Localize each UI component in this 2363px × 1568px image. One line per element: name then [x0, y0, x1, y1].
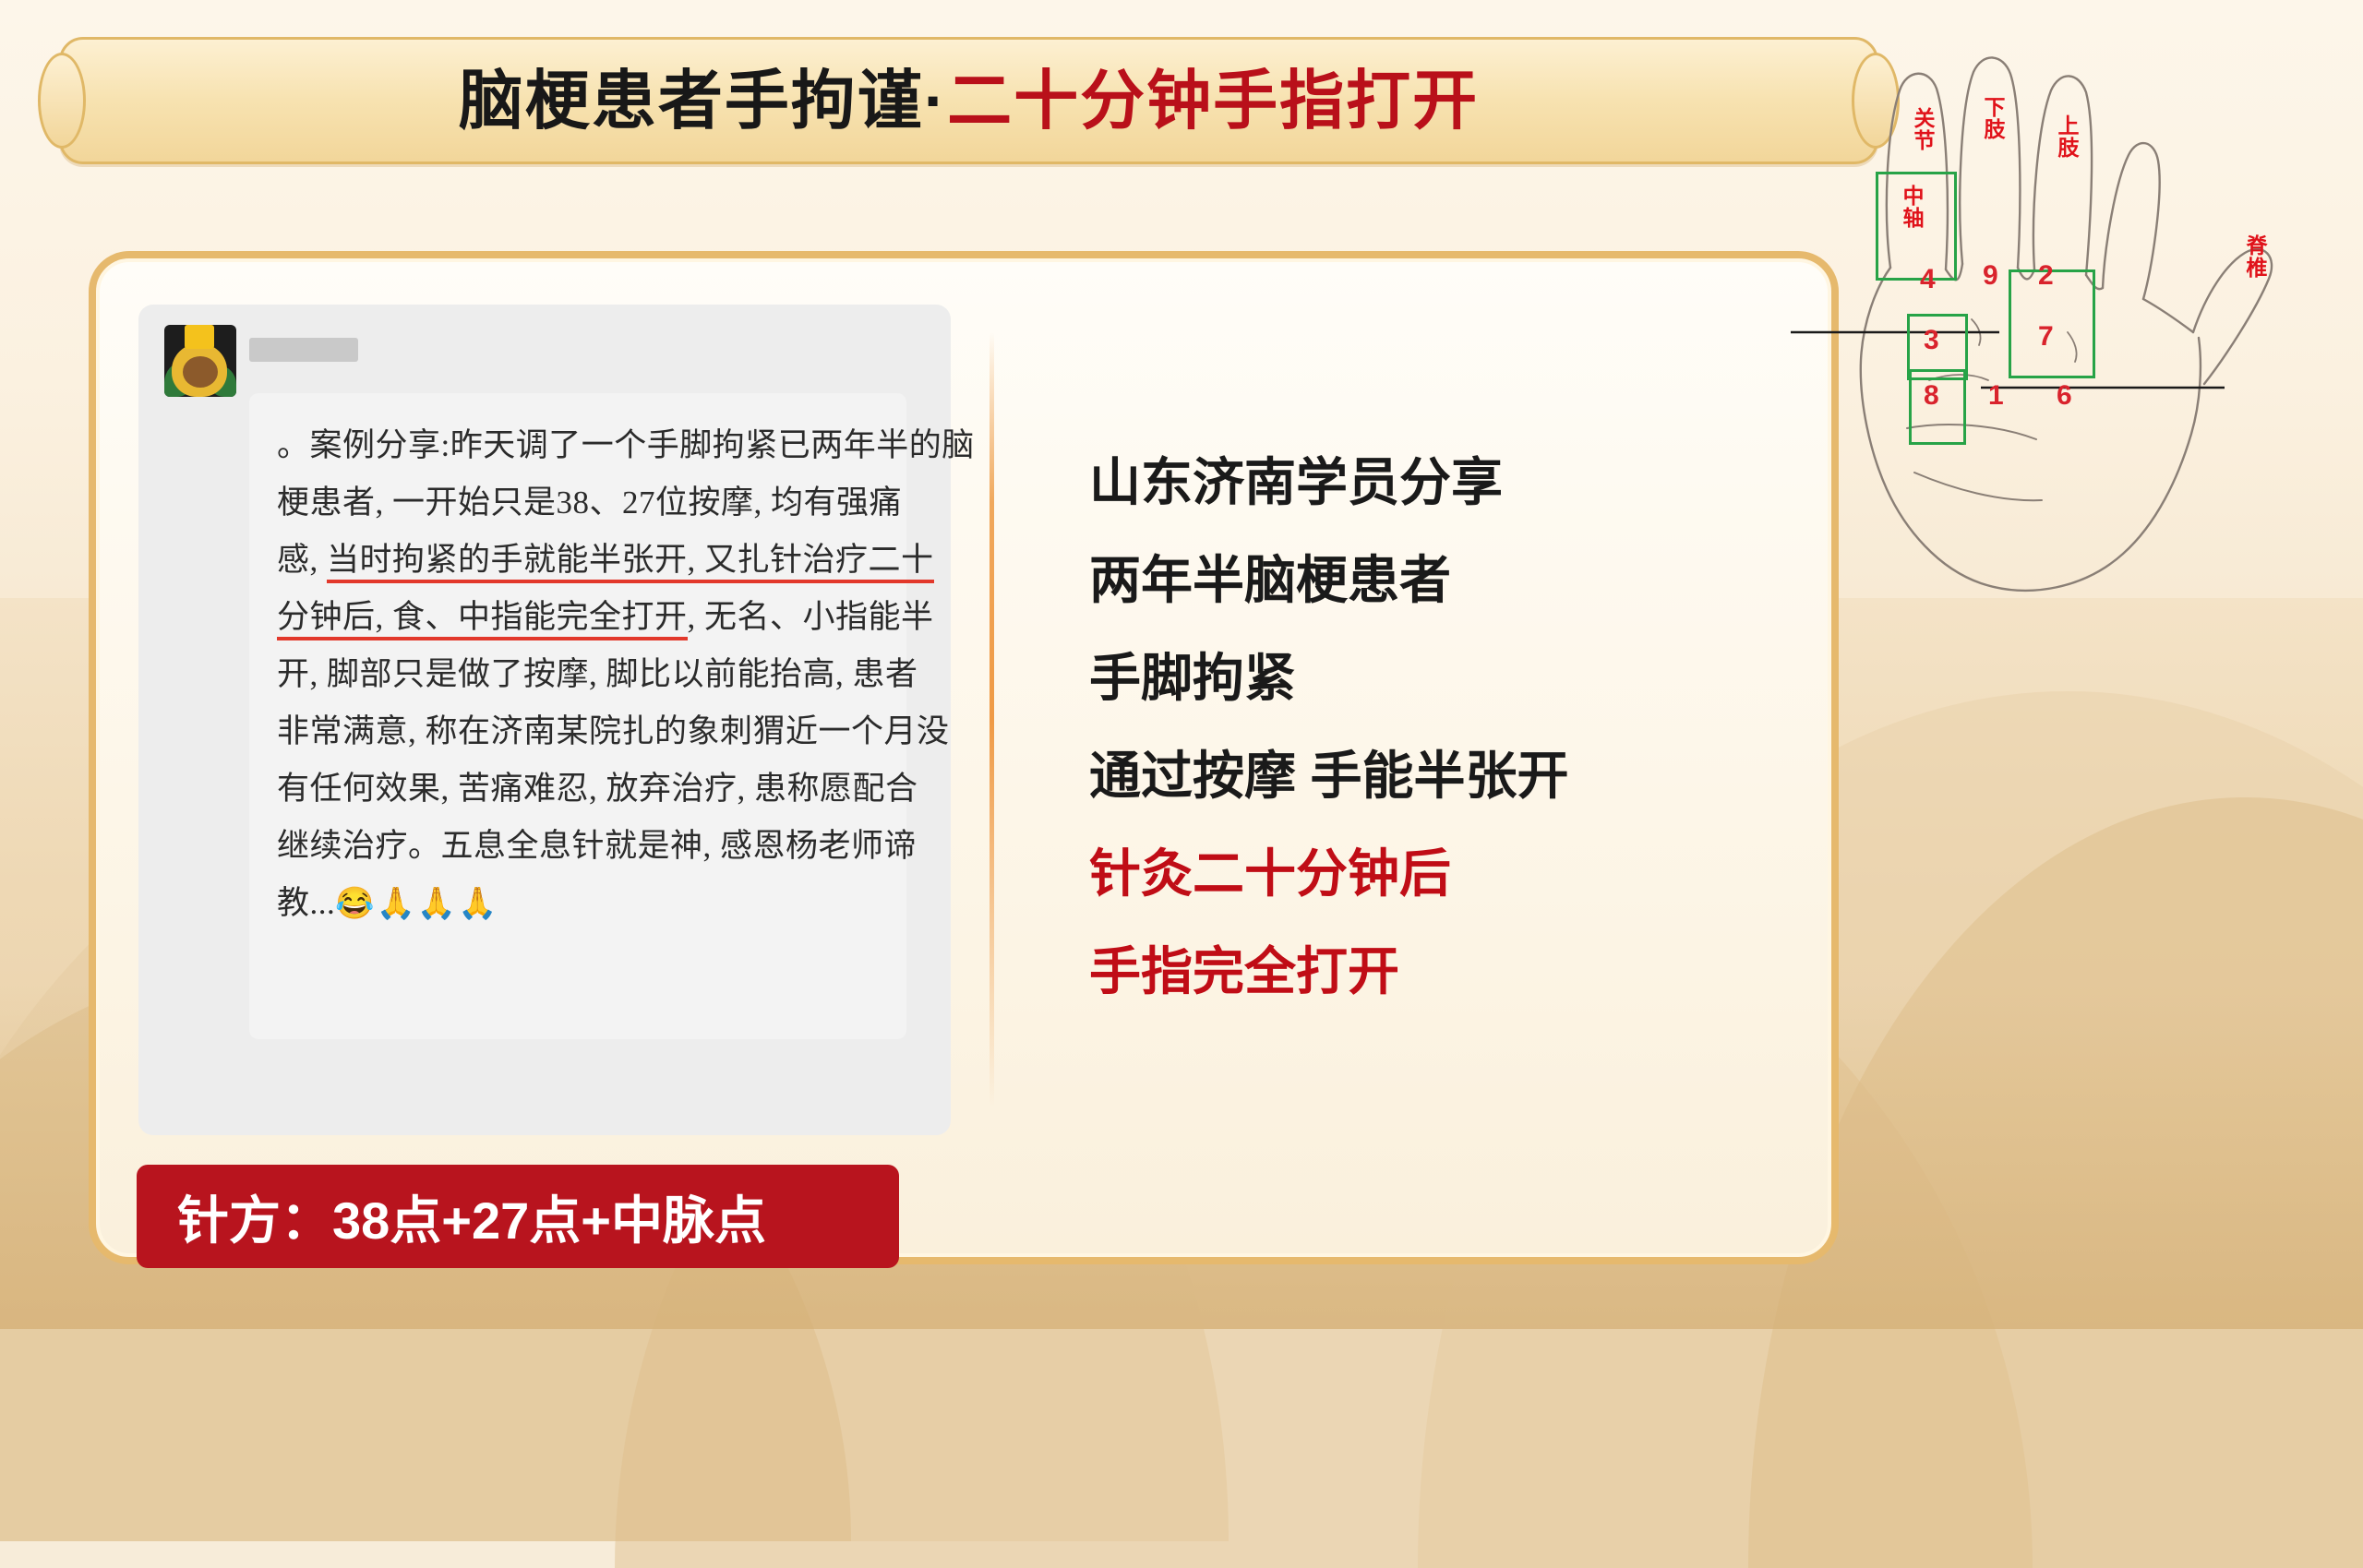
label-jizhui: 脊椎 — [2243, 234, 2267, 279]
list-item: 手脚拘紧 — [1089, 629, 1791, 727]
prescription-badge: 针方：38点+27点+中脉点 — [137, 1165, 899, 1268]
message-line: 分钟后, 食、中指能完全打开, 无名、小指能半 — [277, 589, 879, 646]
point-number-4: 4 — [1920, 264, 1936, 295]
message-line-tail: 教... — [277, 885, 335, 921]
message-line: 开, 脚部只是做了按摩, 脚比以前能抬高, 患者 — [277, 646, 879, 703]
message-line: 继续治疗。五息全息针就是神, 感恩杨老师谛 — [277, 818, 879, 875]
avatar — [164, 325, 236, 397]
prescription-text: 针方：38点+27点+中脉点 — [137, 1179, 766, 1254]
emoji-glyphs: 😂🙏🙏🙏 — [335, 887, 498, 921]
label-zhongzhou: 中轴 — [1900, 185, 1924, 229]
message-line: 。案例分享:昨天调了一个手脚拘紧已两年半的脑 — [277, 417, 879, 474]
list-item: 通过按摩 手能半张开 — [1089, 727, 1791, 825]
point-number-6: 6 — [2057, 380, 2072, 412]
page-title-dark: 脑梗患者手拘谨· — [459, 68, 947, 133]
label-guanjie: 关节 — [1911, 107, 1935, 151]
message-line: 感, 当时拘紧的手就能半张开, 又扎针治疗二十 — [277, 532, 879, 589]
vertical-divider — [990, 332, 994, 1107]
avatar-face — [183, 356, 218, 388]
avatar-top — [185, 325, 214, 349]
point-number-2: 2 — [2038, 260, 2054, 292]
list-item: 山东济南学员分享 — [1089, 434, 1791, 532]
summary-list: 山东济南学员分享 两年半脑梗患者 手脚拘紧 通过按摩 手能半张开 针灸二十分钟后… — [1089, 434, 1791, 1021]
message-line: 非常满意, 称在济南某院扎的象刺猬近一个月没 — [277, 703, 879, 760]
title-banner: 脑梗患者手拘谨·二十分钟手指打开 — [59, 37, 1878, 164]
label-shangzhi: 上肢 — [2055, 114, 2079, 159]
point-number-8: 8 — [1924, 380, 1939, 412]
message-line: 有任何效果, 苦痛难忍, 放弃治疗, 患称愿配合 — [277, 760, 879, 818]
wechat-screenshot-card: 。案例分享:昨天调了一个手脚拘紧已两年半的脑 梗患者, 一开始只是38、27位按… — [138, 305, 951, 1135]
point-number-9: 9 — [1983, 260, 1998, 292]
message-line-highlight: 当时拘紧的手就能半张开, 又扎针治疗二十 — [327, 542, 934, 583]
list-item: 两年半脑梗患者 — [1089, 532, 1791, 629]
point-number-1: 1 — [1988, 380, 2004, 412]
list-item: 手指完全打开 — [1089, 923, 1791, 1021]
list-item: 针灸二十分钟后 — [1089, 825, 1791, 923]
message-line: 梗患者, 一开始只是38、27位按摩, 均有强痛 — [277, 474, 879, 532]
page-title-red: 二十分钟手指打开 — [947, 68, 1479, 133]
message-line-highlight: 分钟后, 食、中指能完全打开 — [277, 599, 688, 640]
label-xiazhi: 下肢 — [1981, 96, 2005, 140]
point-number-7: 7 — [2038, 321, 2054, 353]
point-number-3: 3 — [1924, 325, 1939, 356]
message-line: 教...😂🙏🙏🙏 — [277, 875, 879, 933]
sender-name-redacted — [249, 338, 358, 362]
message-bubble: 。案例分享:昨天调了一个手脚拘紧已两年半的脑 梗患者, 一开始只是38、27位按… — [249, 393, 906, 1039]
hand-diagram: 关节 下肢 上肢 中轴 脊椎 4 9 2 3 7 8 1 6 — [1791, 55, 2363, 738]
